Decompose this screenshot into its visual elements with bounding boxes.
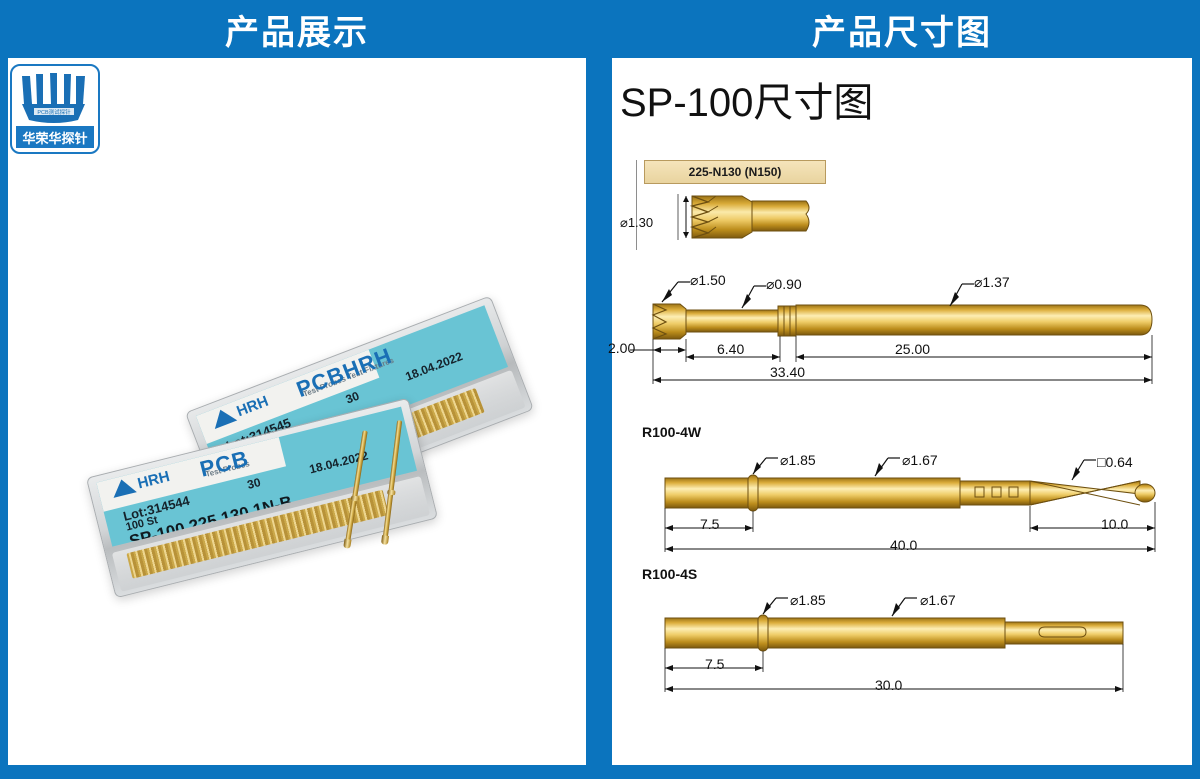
drawing-title: SP-100尺寸图	[620, 70, 873, 128]
r100-4s-dim-total: 30.0	[875, 677, 902, 693]
main-dim-tip: 2.00	[608, 340, 635, 356]
header-left-title: 产品展示	[225, 5, 369, 54]
tip-detail-card: 225-N130 (N150)	[636, 160, 841, 250]
loose-probe-2-collar	[387, 489, 396, 495]
main-callout-3: ⌀1.37	[974, 274, 1010, 291]
r100-4w-dim-total: 40.0	[890, 537, 917, 553]
crown-logo-icon: PCB测试探针	[12, 70, 98, 126]
left-panel: HRH Test Probes Test Fixtures PCBHRH Lot…	[8, 58, 586, 765]
r100-4w-callout-2: ⌀1.67	[902, 452, 938, 469]
tip-detail-vline	[636, 160, 637, 250]
r100-4s-drawing	[620, 590, 1185, 700]
vertical-divider	[594, 0, 604, 779]
logo-text: 华荣华探针	[16, 126, 94, 148]
main-callout-1: ⌀1.50	[690, 272, 726, 289]
r100-4w-callout-1: ⌀1.85	[780, 452, 816, 469]
r100-4w-dim-front: 7.5	[700, 516, 719, 532]
loose-probe-1-tip	[343, 539, 351, 549]
case-front-pcb-text: PCB	[197, 445, 251, 482]
frame-left-border	[0, 58, 8, 779]
logo-mark-caption: PCB测试探针	[37, 108, 71, 116]
loose-probe-2-tip	[381, 535, 389, 545]
main-callout-2: ⌀0.90	[766, 276, 802, 293]
company-logo: PCB测试探针 华荣华探针	[10, 64, 100, 154]
product-photo: HRH Test Probes Test Fixtures PCBHRH Lot…	[8, 58, 586, 765]
frame-bottom-border	[0, 765, 1200, 779]
header-product-dimensions: 产品尺寸图	[604, 0, 1200, 58]
header-product-showcase: 产品展示	[0, 0, 594, 58]
main-dim-total: 33.40	[770, 364, 805, 380]
product-boxes: HRH Test Probes Test Fixtures PCBHRH Lot…	[8, 58, 586, 765]
r100-4s-callout-1: ⌀1.85	[790, 592, 826, 609]
r100-4w-dim-tail: 10.0	[1101, 516, 1128, 532]
tip-detail-tag: 225-N130 (N150)	[644, 160, 826, 184]
r100-4w-callout-3: □0.64	[1097, 454, 1133, 470]
r100-4s-dim-front: 7.5	[705, 656, 724, 672]
r100-4s-callout-2: ⌀1.67	[920, 592, 956, 609]
tip-detail-svg	[656, 190, 841, 248]
main-dim-barrel: 25.00	[895, 341, 930, 357]
tip-diameter-label: ⌀1.30	[620, 215, 653, 231]
section-label-r100-4s: R100-4S	[642, 566, 697, 582]
loose-probe-1-collar	[350, 495, 359, 501]
header-right-title: 产品尺寸图	[812, 5, 992, 54]
section-label-r100-4w: R100-4W	[642, 424, 701, 440]
case-back-qty: 30	[344, 389, 361, 407]
frame-right-border	[1192, 58, 1200, 779]
main-dim-front: 6.40	[717, 341, 744, 357]
page-root: 产品展示 产品尺寸图 HRH	[0, 0, 1200, 779]
case-front-qty: 30	[246, 475, 262, 492]
case-back-date: 18.04.2022	[403, 349, 464, 384]
